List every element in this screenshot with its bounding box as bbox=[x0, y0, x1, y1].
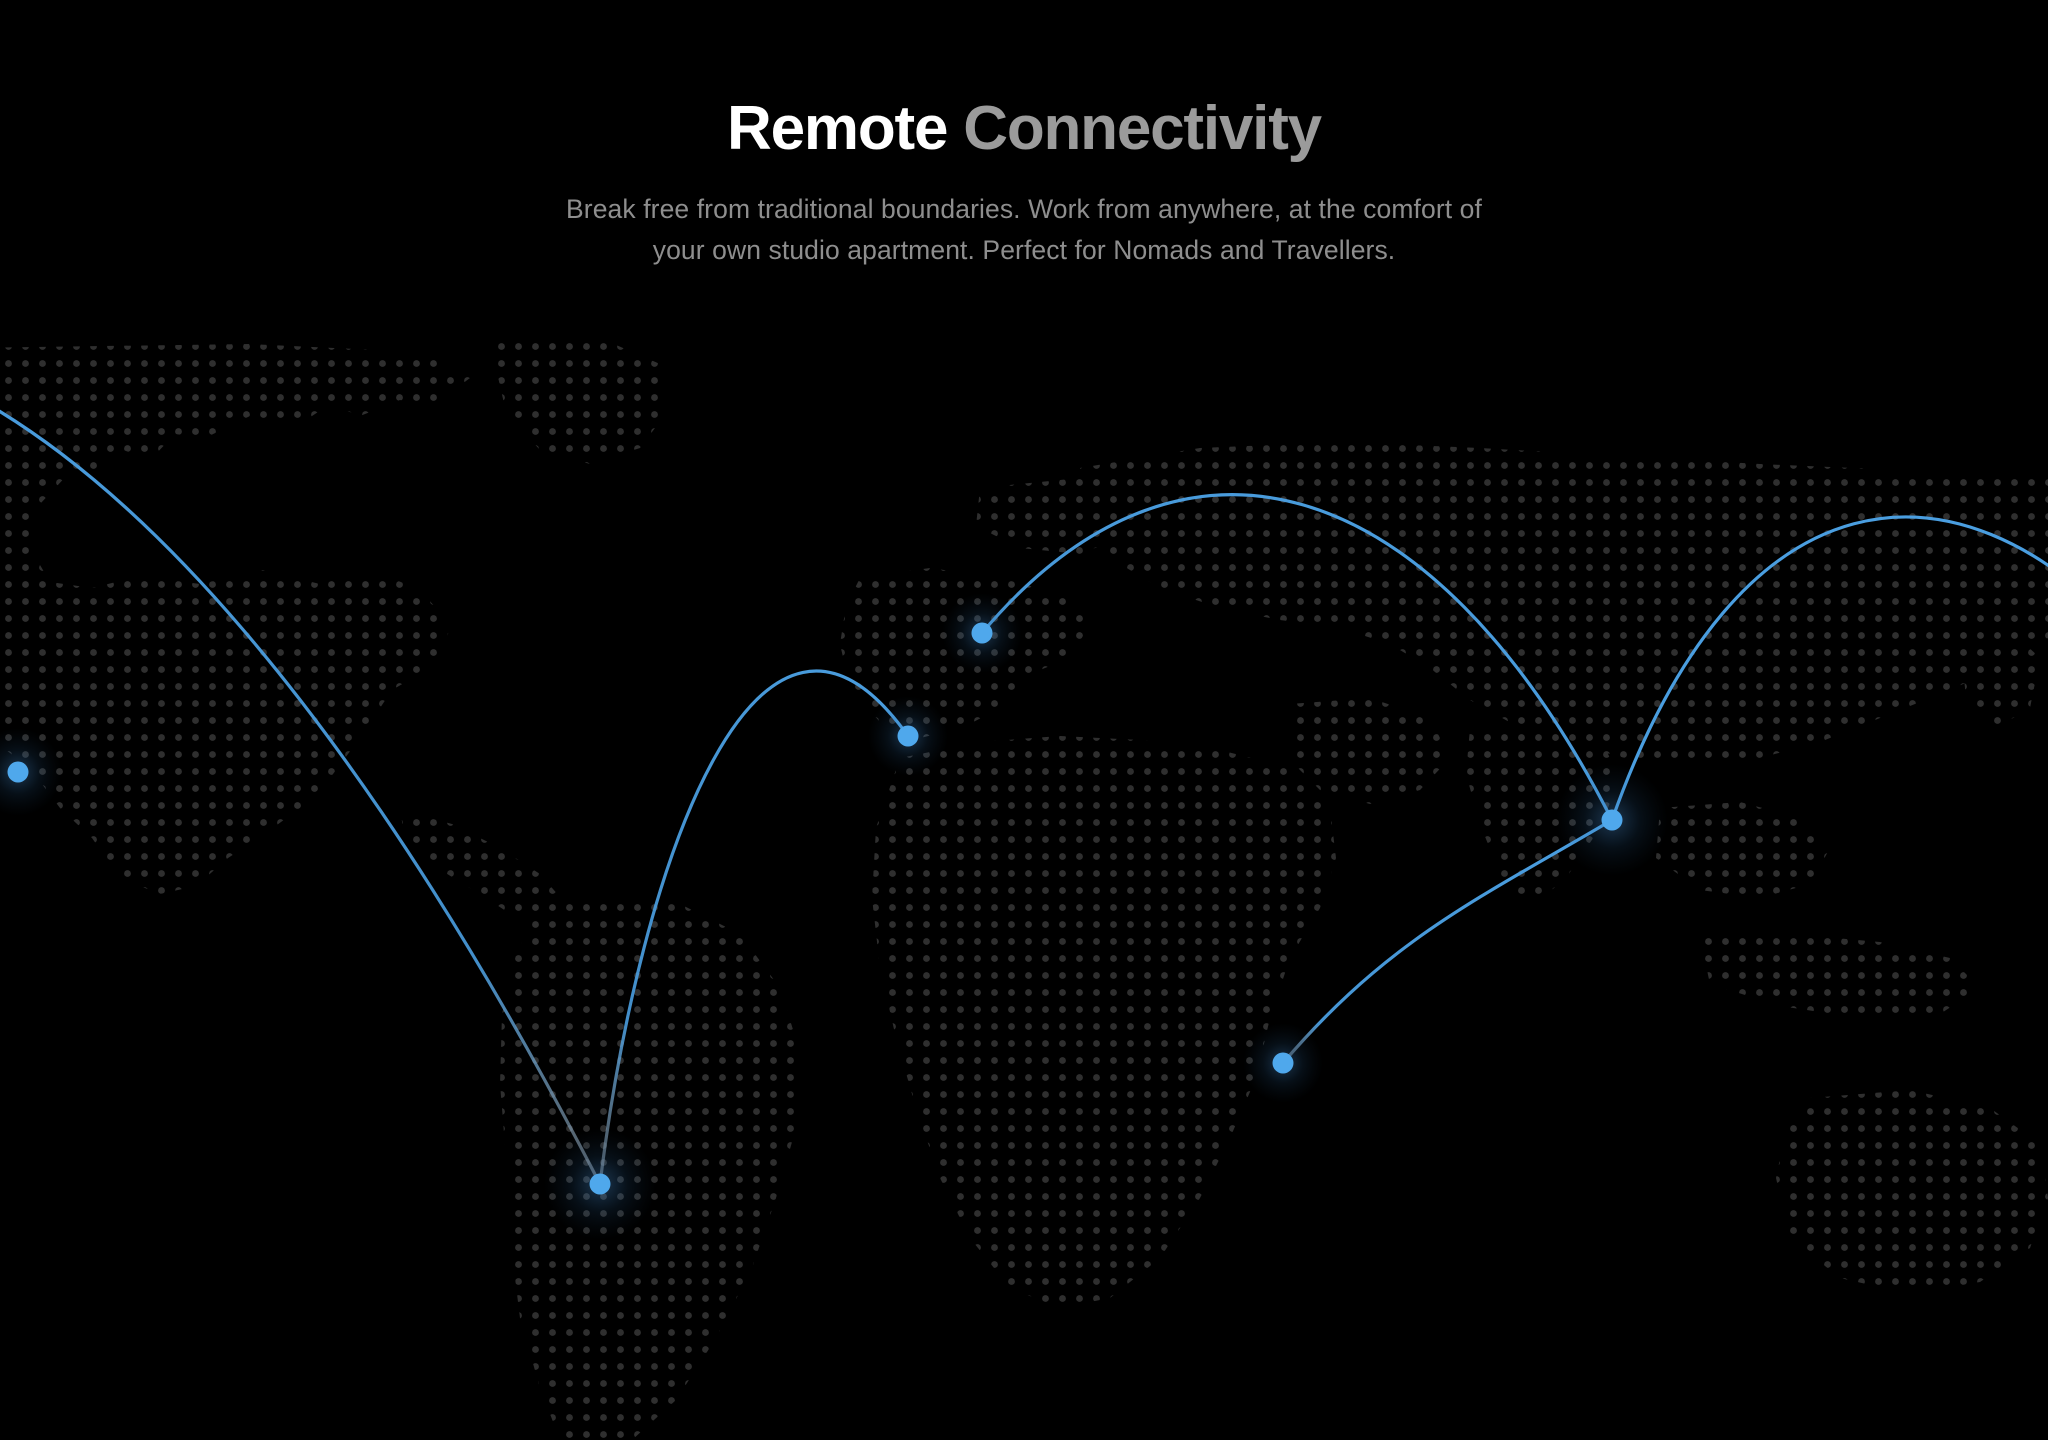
node-central-asia[interactable] bbox=[1602, 810, 1623, 831]
hero-subtitle: Break free from traditional boundaries. … bbox=[459, 189, 1589, 271]
connection-arc-layer bbox=[0, 338, 2048, 1440]
node-west-pacific[interactable] bbox=[8, 762, 29, 783]
subtitle-line-1: Break free from traditional boundaries. … bbox=[459, 189, 1589, 230]
arc-africa-to-asia bbox=[1283, 820, 1612, 1063]
page-title: Remote Connectivity bbox=[0, 96, 2048, 161]
subtitle-line-2: your own studio apartment. Perfect for N… bbox=[459, 230, 1589, 271]
node-west-europe[interactable] bbox=[898, 726, 919, 747]
arc-south-america-to-europe bbox=[600, 671, 908, 1184]
arc-north-europe-to-asia bbox=[982, 495, 1612, 820]
hero-section: Remote Connectivity Break free from trad… bbox=[0, 0, 2048, 271]
title-secondary: Connectivity bbox=[963, 94, 1321, 163]
node-north-europe[interactable] bbox=[972, 623, 993, 644]
world-map-stage bbox=[0, 338, 2048, 1440]
node-south-america[interactable] bbox=[590, 1174, 611, 1195]
title-primary: Remote bbox=[727, 94, 947, 163]
arc-asia-to-east-edge bbox=[1612, 517, 2048, 820]
node-east-africa[interactable] bbox=[1273, 1053, 1294, 1074]
arc-pacific-to-south-america bbox=[0, 356, 600, 1184]
